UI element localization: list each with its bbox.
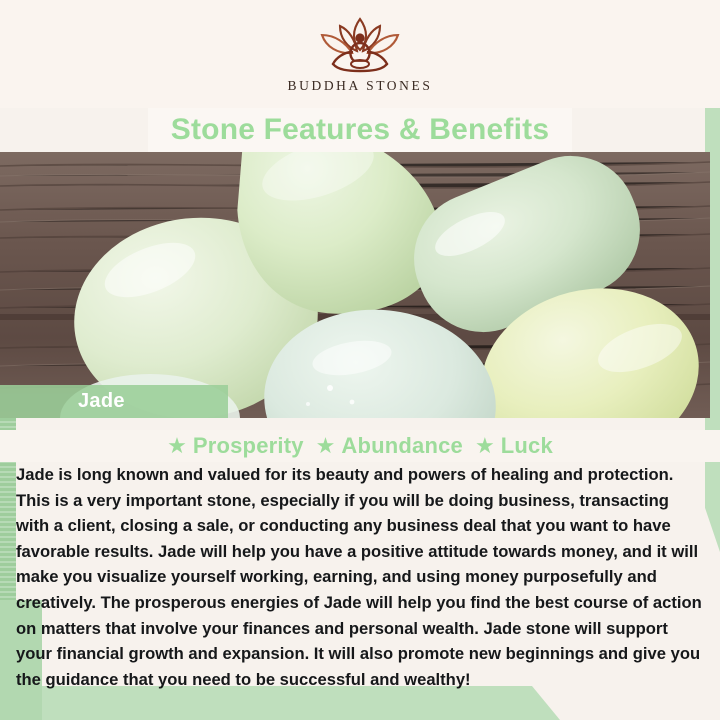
star-icon: ★: [167, 435, 187, 457]
benefit-item: ★ Abundance: [316, 433, 463, 459]
stone-description-text: Jade is long known and valued for its be…: [16, 462, 704, 692]
infographic-page: BUDDHA STONES Stone Features & Benefits: [0, 0, 720, 720]
star-icon: ★: [316, 435, 336, 457]
brand-name: BUDDHA STONES: [288, 78, 433, 94]
stone-caption-bar: Jade: [0, 385, 228, 418]
benefit-item: ★ Luck: [475, 433, 553, 459]
page-title: Stone Features & Benefits: [171, 113, 549, 147]
star-icon: ★: [475, 435, 495, 457]
stone-name: Jade: [78, 390, 125, 413]
brand-header: BUDDHA STONES: [0, 0, 720, 108]
lotus-meditation-icon: [300, 14, 420, 76]
benefit-item: ★ Prosperity: [167, 433, 304, 459]
benefits-row: ★ Prosperity ★ Abundance ★ Luck: [0, 430, 720, 462]
stone-photo: [0, 152, 710, 418]
benefit-label: Abundance: [341, 433, 463, 459]
stone-photo-image: [0, 152, 710, 418]
title-banner: Stone Features & Benefits: [148, 108, 572, 152]
benefit-label: Luck: [501, 433, 553, 459]
stone-description: Jade is long known and valued for its be…: [16, 462, 704, 692]
benefit-label: Prosperity: [193, 433, 304, 459]
